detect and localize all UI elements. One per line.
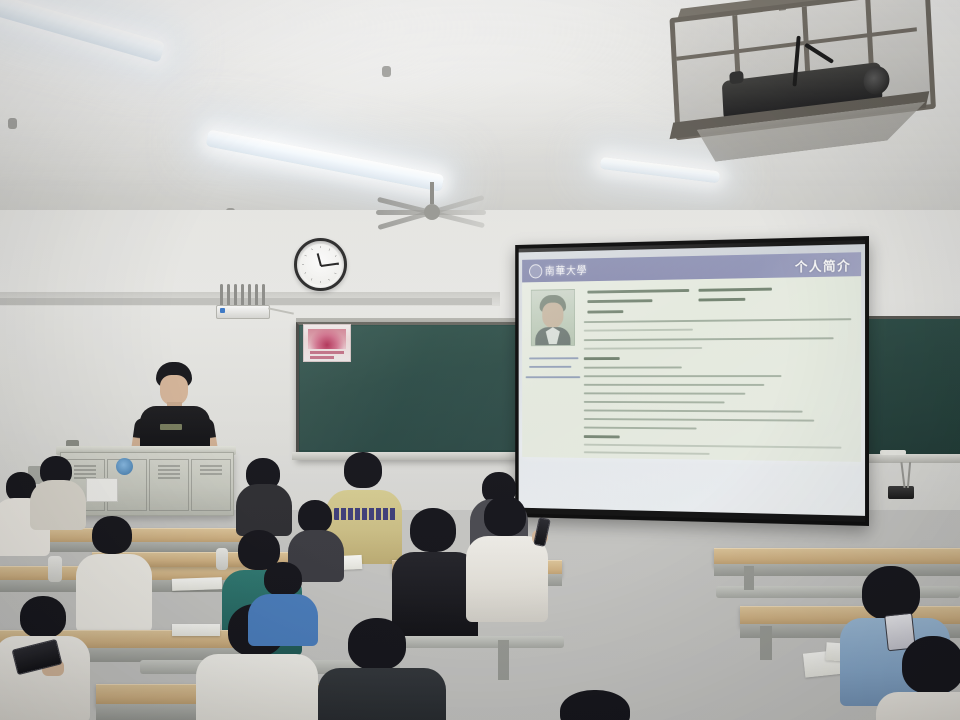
poster-artwork [308,329,346,349]
podium-label-sheet [86,478,118,502]
projection-screen[interactable]: 南華大學 个人简介 [515,236,869,526]
ceiling-mark [382,66,391,77]
slide-title: 个人简介 [795,255,861,275]
portrait-photo [531,289,575,346]
university-logo: 南華大學 [522,262,587,278]
projector-knob [729,71,744,85]
classroom-photo: 南華大學 个人简介 [0,0,960,720]
jammer-led-icon [220,308,225,313]
lecturer-shirt-logo [160,424,182,430]
fan-rod [430,182,434,204]
logo-seal-icon [529,264,542,278]
shirt-back-text [334,508,396,520]
water-bottle [216,548,228,570]
wall-clock [294,238,347,291]
ceiling-fixture-dot [8,118,17,129]
screen-bottom-bar [519,508,865,522]
ceiling-fan [376,196,486,230]
podium-emblem-icon [116,458,133,475]
fan-hub [424,204,440,220]
phone[interactable] [533,517,551,547]
red-poster [303,324,351,362]
projector-lens-icon [863,65,890,96]
logo-text: 南華大學 [545,262,587,278]
blackboard-eraser [888,486,914,499]
slide-content: 南華大學 个人简介 [522,276,861,462]
paper-sheet [172,577,222,591]
water-bottle [48,556,62,582]
projection-surface: 南華大學 个人简介 [519,240,865,522]
bench-mid [398,636,564,648]
paper-sheet [172,624,220,636]
chalk-stick [880,450,906,455]
signal-jammer-device [212,284,272,318]
slide-body [522,276,861,462]
